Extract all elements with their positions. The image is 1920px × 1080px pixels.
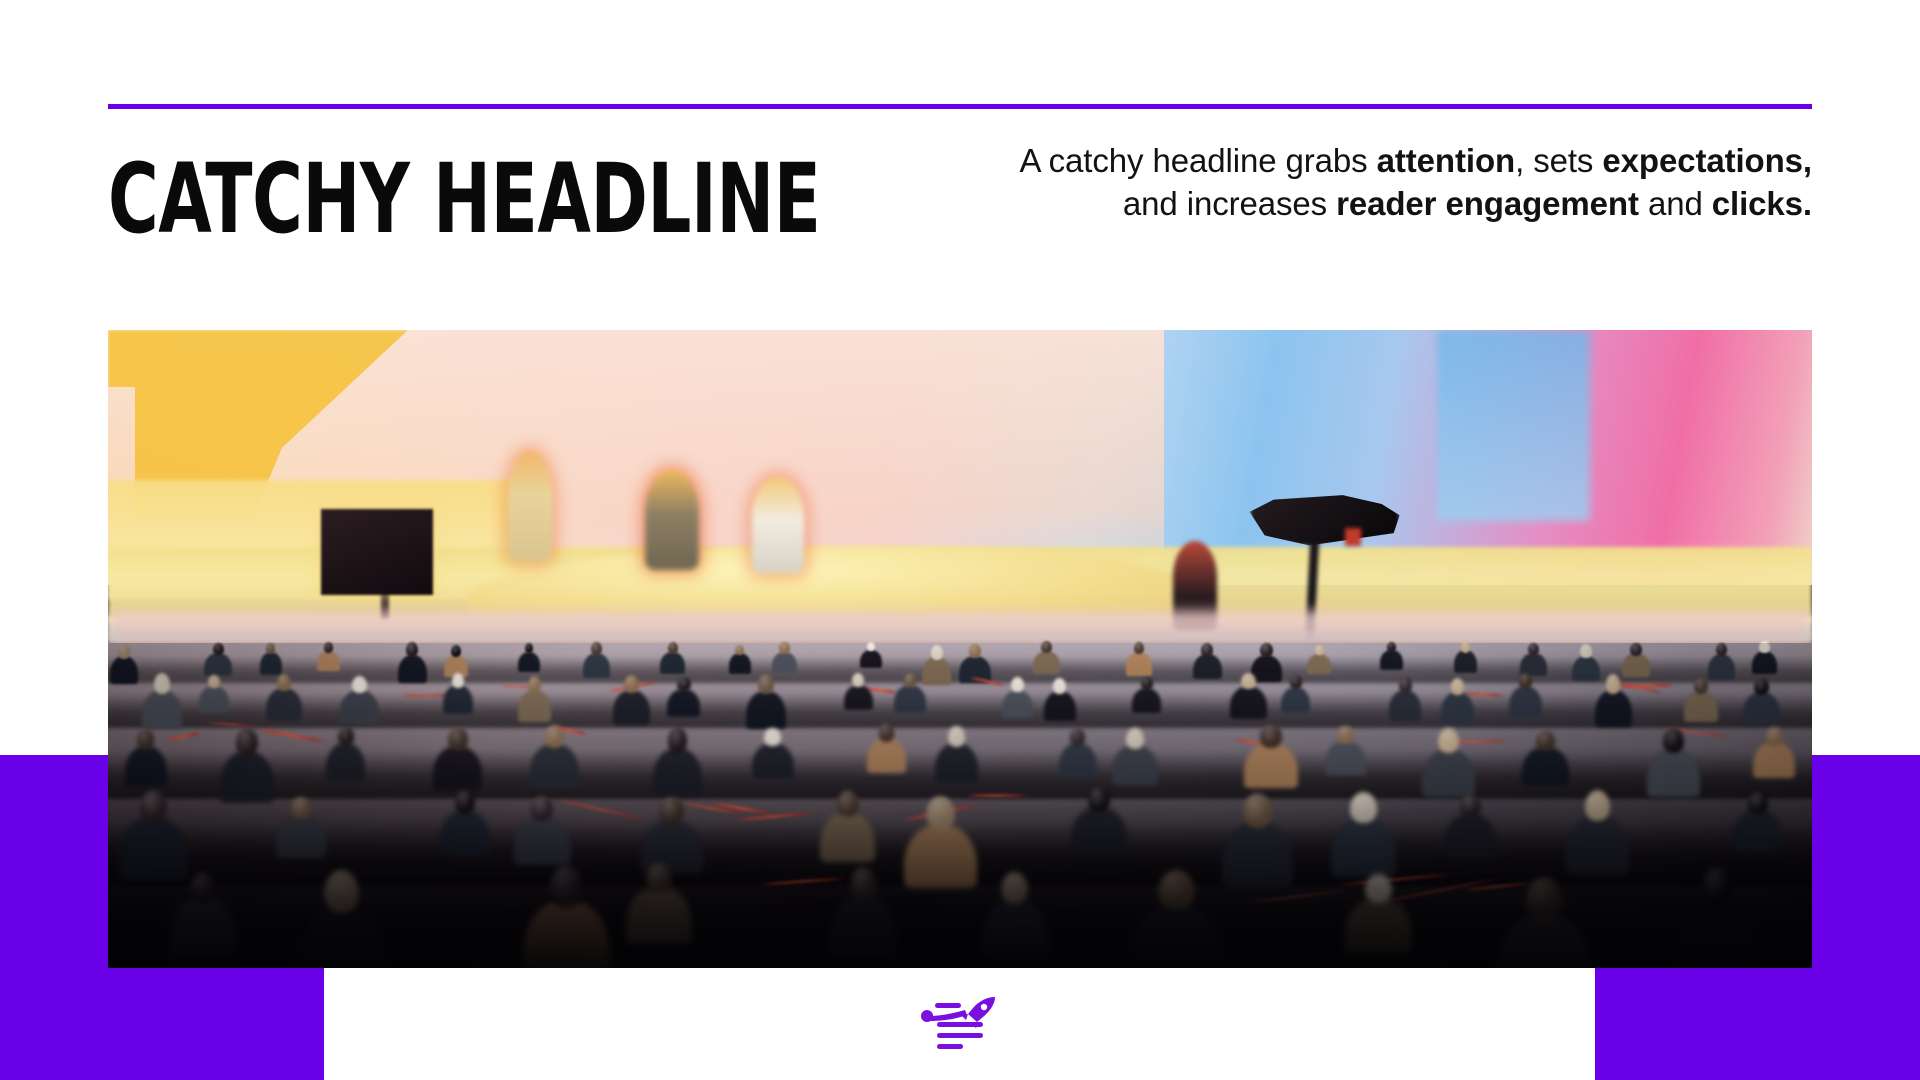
audience-head — [1536, 731, 1555, 751]
audience-member — [1595, 690, 1632, 726]
audience-head — [591, 642, 602, 655]
audience-head — [1315, 645, 1325, 656]
audience-head — [1041, 641, 1052, 653]
audience-head — [291, 797, 311, 820]
audience-head — [277, 674, 291, 691]
audience-member — [1345, 898, 1412, 954]
audience-member — [844, 685, 873, 711]
audience-head — [1011, 677, 1024, 692]
audience-head — [213, 643, 224, 655]
audience-member — [340, 690, 380, 723]
audience-head — [528, 676, 541, 693]
conference-audience-photo — [108, 330, 1812, 968]
audience-member — [1033, 651, 1060, 674]
audience-head — [624, 675, 639, 693]
audience-member — [613, 690, 650, 725]
audience-member — [867, 738, 906, 773]
audience-member — [1281, 687, 1310, 714]
audience-member — [1132, 688, 1162, 713]
audience-head — [1630, 643, 1641, 656]
seat-piping — [258, 728, 327, 743]
audience-member — [119, 817, 187, 881]
audience-head — [549, 865, 584, 908]
audience-head — [1260, 643, 1273, 657]
audience-member — [1126, 652, 1152, 675]
audience-member — [199, 686, 229, 712]
audience-head — [324, 870, 359, 914]
audience-head — [668, 642, 678, 654]
audience-head — [1759, 641, 1769, 653]
audience-head — [1461, 641, 1470, 653]
audience-member — [1112, 745, 1158, 784]
audience-head — [677, 677, 690, 692]
audience-member — [1684, 691, 1718, 721]
audience-member — [981, 899, 1048, 961]
audience-member — [266, 688, 301, 721]
audience-member — [626, 887, 692, 943]
audience-member — [518, 690, 551, 722]
slide-canvas: CATCHY HEADLINE A catchy headline grabs … — [0, 0, 1920, 1080]
audience-head — [324, 642, 333, 653]
panel-speaker-2 — [645, 470, 699, 570]
audience-member — [1380, 650, 1403, 670]
audience-member — [317, 651, 340, 671]
audience-member — [518, 652, 540, 672]
subhead-line2-bold2: clicks. — [1712, 185, 1812, 222]
audience-head — [1399, 677, 1412, 693]
audience-head — [1525, 877, 1563, 922]
audience-head — [837, 790, 859, 816]
audience-head — [190, 872, 216, 903]
seat-piping — [501, 684, 532, 688]
audience-member — [1753, 742, 1795, 778]
audience-member — [1441, 692, 1474, 724]
audience-member — [125, 746, 167, 787]
audience-head — [1070, 728, 1085, 747]
subhead-paragraph: A catchy headline grabs attention, sets … — [912, 140, 1812, 226]
audience-head — [1585, 790, 1610, 821]
audience-head — [352, 676, 368, 694]
audience-head — [1350, 792, 1376, 823]
audience-member — [1244, 743, 1298, 787]
audience-head — [904, 673, 917, 688]
audience-member — [530, 744, 578, 788]
audience-head — [879, 723, 895, 741]
subhead-line2-mid: and — [1639, 185, 1712, 222]
subhead-line2-pre: and increases — [1123, 185, 1336, 222]
audience-head — [1663, 728, 1684, 753]
audience-member — [1193, 654, 1222, 679]
audience-head — [1716, 643, 1727, 657]
audience-member — [1622, 653, 1651, 677]
audience-head — [852, 673, 864, 687]
top-accent-rule — [108, 104, 1812, 109]
audience-member — [660, 652, 685, 674]
audience-member — [746, 691, 786, 729]
audience-member — [326, 743, 365, 781]
subhead-line1-mid: , sets — [1515, 142, 1602, 179]
audience-member — [894, 685, 926, 713]
audience-member — [935, 743, 978, 783]
audience-member — [922, 657, 951, 685]
audience-member — [820, 812, 874, 862]
subhead-line1-bold1: attention — [1377, 142, 1515, 179]
audience-member — [1059, 743, 1097, 778]
audience-head — [531, 796, 554, 821]
audience-head — [1438, 728, 1459, 753]
audience-head — [926, 796, 955, 830]
audience-head — [1606, 674, 1621, 693]
audience-head — [1001, 872, 1028, 905]
camera-red-accent — [1345, 528, 1361, 546]
audience-member — [1230, 686, 1268, 718]
audience-head — [236, 728, 258, 756]
audience-member — [514, 817, 571, 865]
audience-head — [1460, 794, 1481, 818]
audience-member — [1445, 813, 1496, 858]
audience-member — [772, 652, 797, 674]
audience-head — [452, 673, 464, 688]
audience-member — [830, 895, 896, 959]
audience-head — [948, 726, 965, 747]
audience-head — [758, 674, 774, 694]
audience-member — [170, 898, 236, 958]
audience-member — [1071, 807, 1127, 854]
audience-member — [641, 820, 703, 873]
stage-monitor — [321, 509, 433, 595]
audience-head — [1053, 678, 1066, 694]
audience-head — [1088, 787, 1110, 812]
audience-head — [137, 729, 154, 751]
subhead-line2-bold1: reader engagement — [1336, 185, 1639, 222]
audience-member — [1044, 691, 1076, 721]
audience-member — [729, 653, 751, 673]
audience-member — [260, 652, 283, 674]
audience-head — [1754, 678, 1769, 695]
audience-head — [1260, 724, 1281, 747]
audience-head — [1290, 675, 1302, 689]
audience-member — [110, 656, 138, 684]
audience-head — [1243, 793, 1272, 827]
audience-head — [1694, 678, 1708, 694]
audience-member — [1509, 686, 1542, 717]
audience-member — [440, 810, 490, 856]
audience-head — [659, 797, 684, 825]
seat-piping — [554, 797, 648, 820]
page-title: CATCHY HEADLINE — [108, 152, 821, 246]
subhead-line1-pre: A catchy headline grabs — [1019, 142, 1376, 179]
seat-piping — [967, 794, 1028, 797]
header-row: CATCHY HEADLINE A catchy headline grabs … — [108, 140, 1812, 300]
audience-head — [1141, 677, 1153, 690]
audience-member — [1454, 650, 1478, 672]
audience-member — [443, 685, 473, 714]
audience-head — [451, 645, 461, 657]
audience-member — [276, 815, 326, 858]
audience-member — [1733, 810, 1782, 851]
audience-head — [1580, 644, 1591, 658]
audience-member — [1566, 816, 1628, 875]
audience-member — [1647, 749, 1700, 797]
audience-head — [1451, 678, 1464, 695]
audience-head — [1126, 728, 1144, 749]
audience-crowd — [108, 643, 1812, 968]
audience-head — [140, 790, 167, 824]
seat-piping — [1250, 889, 1349, 904]
panel-speaker-1 — [508, 451, 552, 561]
audience-member — [1743, 692, 1780, 724]
audience-member — [860, 650, 882, 669]
audience-head — [118, 644, 129, 659]
audience-head — [1528, 643, 1539, 655]
backdrop-blue-strip — [1437, 330, 1590, 521]
audience-head — [969, 644, 982, 658]
audience-head — [448, 727, 468, 750]
audience-head — [1241, 673, 1256, 690]
audience-member — [1522, 747, 1568, 785]
audience-member — [398, 655, 427, 683]
audience-member — [1389, 690, 1421, 721]
audience-head — [1766, 727, 1783, 746]
audience-head — [931, 645, 943, 660]
audience-head — [668, 727, 688, 752]
audience-head — [1201, 643, 1213, 656]
audience-head — [779, 642, 789, 653]
audience-head — [154, 673, 170, 693]
audience-head — [646, 863, 673, 893]
audience-head — [338, 726, 354, 746]
audience-member — [433, 746, 482, 790]
subhead-line1-bold2: expectations, — [1602, 142, 1812, 179]
seat-piping — [165, 732, 202, 742]
audience-head — [764, 728, 781, 747]
audience-head — [455, 790, 475, 814]
audience-head — [1365, 874, 1392, 903]
panel-speaker-3 — [752, 477, 804, 573]
audience-member — [1680, 899, 1755, 968]
audience-member — [1752, 651, 1778, 674]
audience-head — [1387, 642, 1396, 652]
footer-panel — [324, 968, 1595, 1080]
audience-head — [850, 867, 877, 900]
audience-member — [1422, 749, 1475, 797]
audience-head — [1748, 792, 1768, 814]
audience-head — [1337, 726, 1353, 744]
audience-member — [1325, 741, 1366, 775]
rocket-lines-icon — [921, 995, 999, 1053]
audience-member — [752, 743, 795, 779]
audience-head — [1158, 870, 1195, 910]
audience-member — [583, 653, 610, 678]
audience-head — [406, 642, 418, 657]
audience-head — [1702, 867, 1732, 906]
audience-head — [545, 725, 564, 748]
